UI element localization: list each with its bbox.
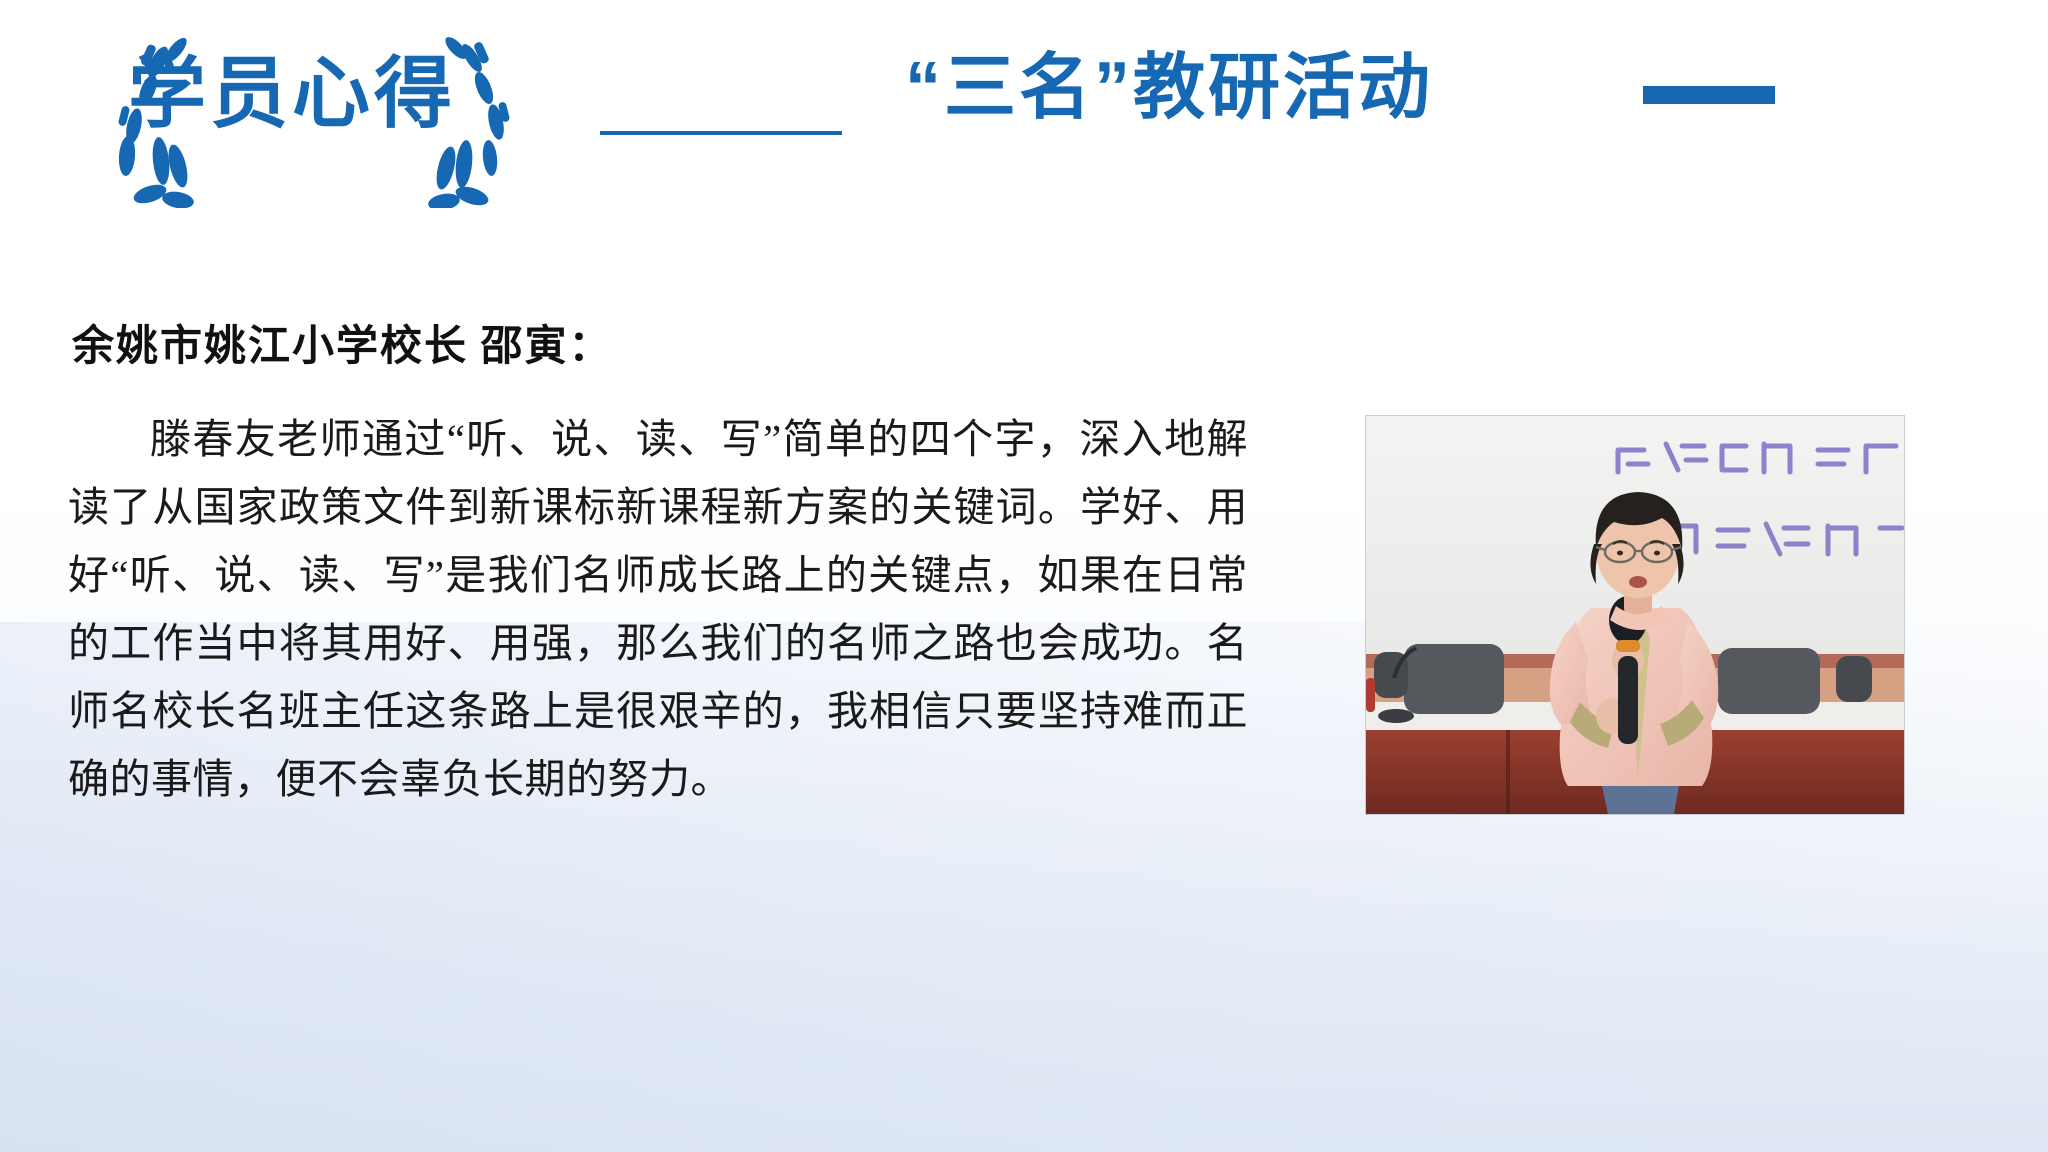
title-tail-dash-icon bbox=[1643, 86, 1775, 104]
testimonial-paragraph: 滕春友老师通过“听、说、读、写”简单的四个字，深入地解读了从国家政策文件到新课标… bbox=[68, 405, 1248, 813]
testimonial-body: 滕春友老师通过“听、说、读、写”简单的四个字，深入地解读了从国家政策文件到新课标… bbox=[68, 405, 1248, 813]
page-title-badge: 学员心得 bbox=[128, 54, 456, 132]
slide-root: 学员心得 “三名”教研活动 余姚市姚江小学校长 邵寅： 滕春友老师通过“听、说、… bbox=[0, 0, 2048, 1152]
slide-header: 学员心得 “三名”教研活动 bbox=[0, 0, 2048, 240]
speaker-heading: 余姚市姚江小学校长 邵寅： bbox=[72, 312, 613, 373]
speaker-photo bbox=[1366, 416, 1904, 814]
page-title-main: “三名”教研活动 bbox=[905, 52, 1433, 124]
title-divider-rule bbox=[600, 131, 842, 135]
